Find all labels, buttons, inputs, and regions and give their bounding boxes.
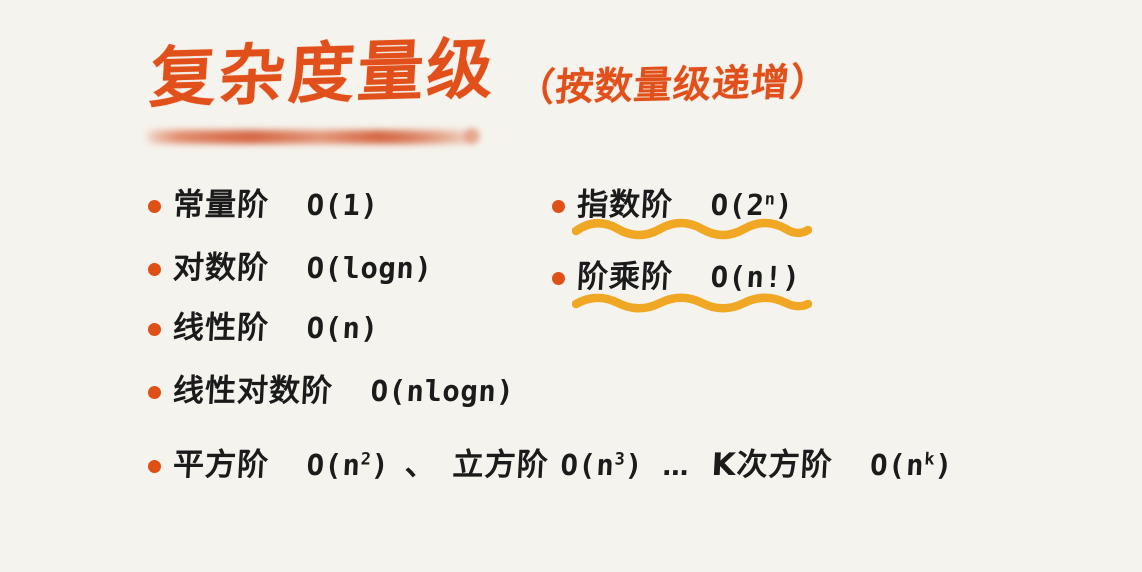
- wavy-underline-factorial: [572, 292, 812, 314]
- handwritten-note-canvas: 复杂度量级 （按数量级递增） 常量阶 O(1) 对数阶 O(logn) 线性阶 …: [0, 0, 1142, 572]
- bullet-icon: [148, 200, 161, 213]
- list-item-content: 指数阶 O(2n): [576, 190, 794, 221]
- list-item-label: 指数阶: [576, 187, 674, 223]
- list-item-polynomial: 平方阶 O(n2) 、 立方阶 O(n3) … K次方阶 O(nk): [148, 450, 953, 481]
- list-item-content: 平方阶 O(n2) 、 立方阶 O(n3) … K次方阶 O(nk): [172, 450, 953, 481]
- cube-notation: O(n3): [560, 448, 644, 482]
- cube-label: 立方阶: [452, 447, 550, 483]
- title-underline-end-dot: [464, 128, 480, 144]
- list-item-content: 常量阶 O(1): [172, 190, 379, 221]
- k-power-label: K次方阶: [711, 447, 834, 483]
- title-underline-band-secondary: [154, 135, 473, 143]
- list-item-linear: 线性阶 O(n): [148, 313, 378, 344]
- list-item-content: 线性阶 O(n): [172, 313, 379, 344]
- list-item-factorial: 阶乘阶 O(n!): [552, 262, 800, 293]
- list-item-notation: O(n): [306, 311, 380, 345]
- k-power-notation: O(nk): [869, 448, 953, 482]
- list-item-exponential: 指数阶 O(2n): [552, 190, 793, 221]
- list-item-constant: 常量阶 O(1): [148, 190, 378, 221]
- list-item-label: 对数阶: [172, 250, 270, 286]
- title-subtitle-text: （按数量级递增）: [515, 62, 831, 107]
- list-item-notation: O(logn): [306, 251, 434, 285]
- bullet-icon: [148, 263, 161, 276]
- page-title: 复杂度量级 （按数量级递增）: [148, 46, 827, 112]
- list-item-label: 阶乘阶: [576, 259, 674, 295]
- list-item-logarithmic: 对数阶 O(logn): [148, 253, 432, 284]
- title-main-text: 复杂度量级: [148, 36, 498, 112]
- list-item-label: 线性对数阶: [172, 373, 334, 409]
- title-underline-band: [146, 130, 478, 143]
- list-item-notation: O(nlogn): [370, 374, 515, 408]
- list-item-linearithmic: 线性对数阶 O(nlogn): [148, 376, 514, 407]
- square-notation: O(n2): [306, 448, 390, 482]
- list-item-notation: O(n!): [710, 260, 802, 294]
- list-item-content: 对数阶 O(logn): [172, 253, 433, 284]
- list-item-content: 线性对数阶 O(nlogn): [172, 376, 515, 407]
- separator-punctuation: 、: [400, 447, 442, 483]
- list-item-notation: O(2n): [710, 188, 794, 222]
- bullet-icon: [552, 200, 565, 213]
- ellipsis: …: [654, 452, 701, 482]
- bullet-icon: [148, 323, 161, 336]
- bullet-icon: [148, 386, 161, 399]
- bullet-icon: [148, 460, 161, 473]
- title-underline-stroke: [146, 126, 478, 148]
- square-label: 平方阶: [172, 447, 270, 483]
- bullet-icon: [552, 272, 565, 285]
- list-item-content: 阶乘阶 O(n!): [576, 262, 801, 293]
- list-item-notation: O(1): [306, 188, 380, 222]
- list-item-label: 线性阶: [172, 310, 270, 346]
- list-item-label: 常量阶: [172, 187, 270, 223]
